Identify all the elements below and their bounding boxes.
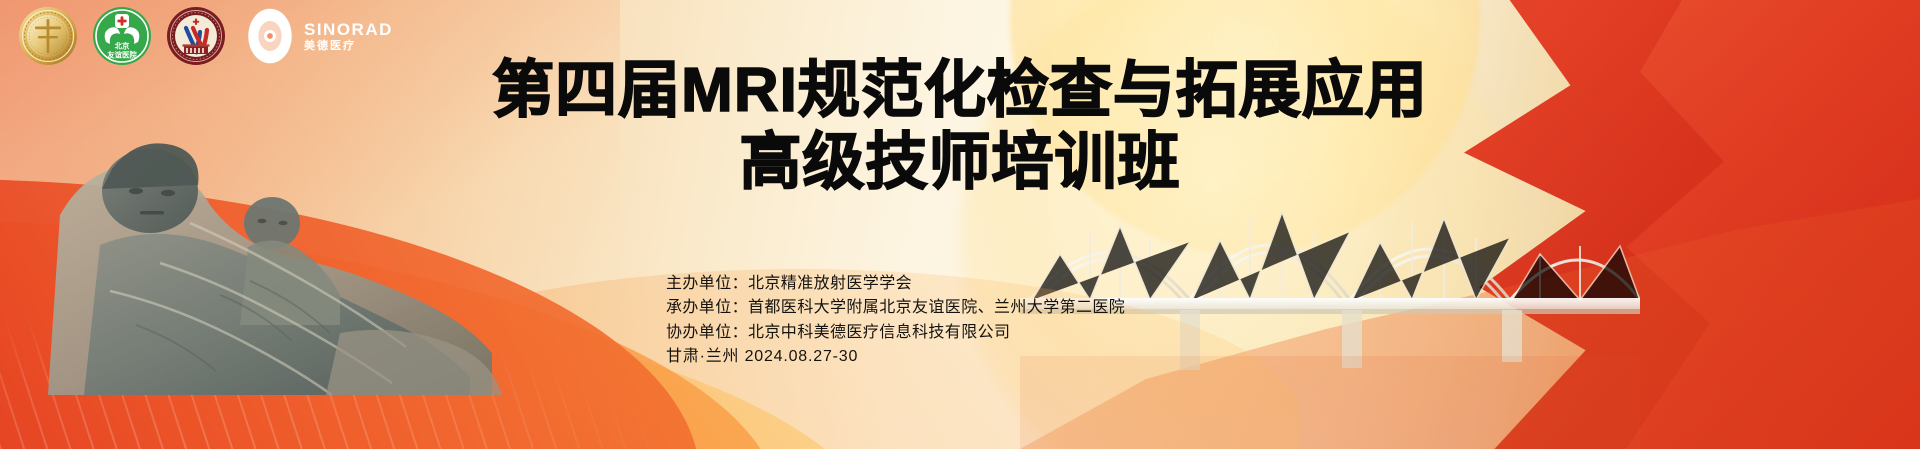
buddha-statue-illustration — [40, 95, 560, 395]
detail-line-coorganizer: 协办单位：北京中科美德医疗信息科技有限公司 — [666, 321, 1125, 345]
sinorad-logo: SINORAD 美德医疗 — [240, 6, 393, 66]
organizer-details: 主办单位：北京精准放射医学学会 承办单位：首都医科大学附属北京友谊医院、兰州大学… — [666, 272, 1125, 369]
logo-row: 北京 友谊医院 — [18, 6, 393, 66]
lanzhou-university-second-hospital-logo — [166, 6, 226, 66]
svg-text:友谊医院: 友谊医院 — [106, 51, 137, 60]
svg-text:北京: 北京 — [115, 42, 130, 51]
detail-line-organizer: 承办单位：首都医科大学附属北京友谊医院、兰州大学第二医院 — [666, 296, 1125, 320]
detail-line-location-date: 甘肃·兰州 2024.08.27-30 — [666, 345, 1125, 369]
beijing-friendship-hospital-logo: 北京 友谊医院 — [92, 6, 152, 66]
detail-line-host: 主办单位：北京精准放射医学学会 — [666, 272, 1125, 296]
conference-banner: 北京 友谊医院 — [0, 0, 1920, 449]
sinorad-eye-icon — [240, 6, 300, 66]
sinorad-wordmark-en: SINORAD — [304, 21, 393, 38]
beijing-precision-radiology-society-logo — [18, 6, 78, 66]
sinorad-wordmark-cn: 美德医疗 — [304, 41, 393, 52]
